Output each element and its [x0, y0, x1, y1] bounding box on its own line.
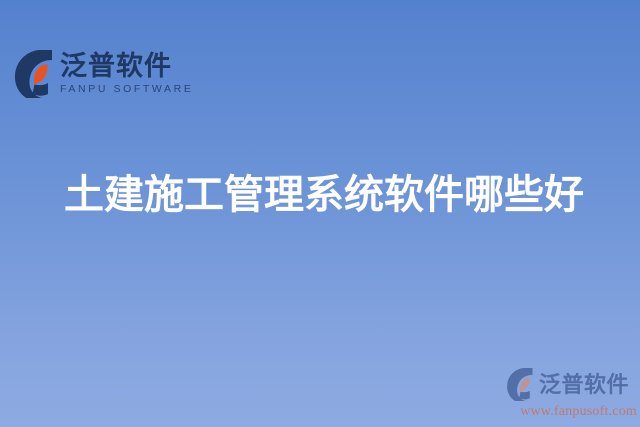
brand-name-cn: 泛普软件	[60, 52, 193, 81]
watermark-url: www.fanpusoft.com	[505, 404, 637, 420]
watermark-lockup: 泛普软件	[505, 368, 637, 401]
page-title: 土建施工管理系统软件哪些好	[64, 172, 584, 219]
promo-banner: 泛普软件 FANPU SOFTWARE 土建施工管理系统软件哪些好 泛普软件 w…	[0, 0, 640, 427]
watermark: 泛普软件 www.fanpusoft.com	[505, 368, 637, 420]
watermark-name-cn: 泛普软件	[539, 374, 629, 396]
brand-name-en: FANPU SOFTWARE	[60, 83, 193, 97]
brand-wordmark: 泛普软件 FANPU SOFTWARE	[60, 52, 193, 97]
fanpu-logo-icon	[505, 368, 534, 401]
brand-lockup: 泛普软件 FANPU SOFTWARE	[14, 50, 193, 98]
fanpu-logo-icon	[14, 50, 52, 98]
